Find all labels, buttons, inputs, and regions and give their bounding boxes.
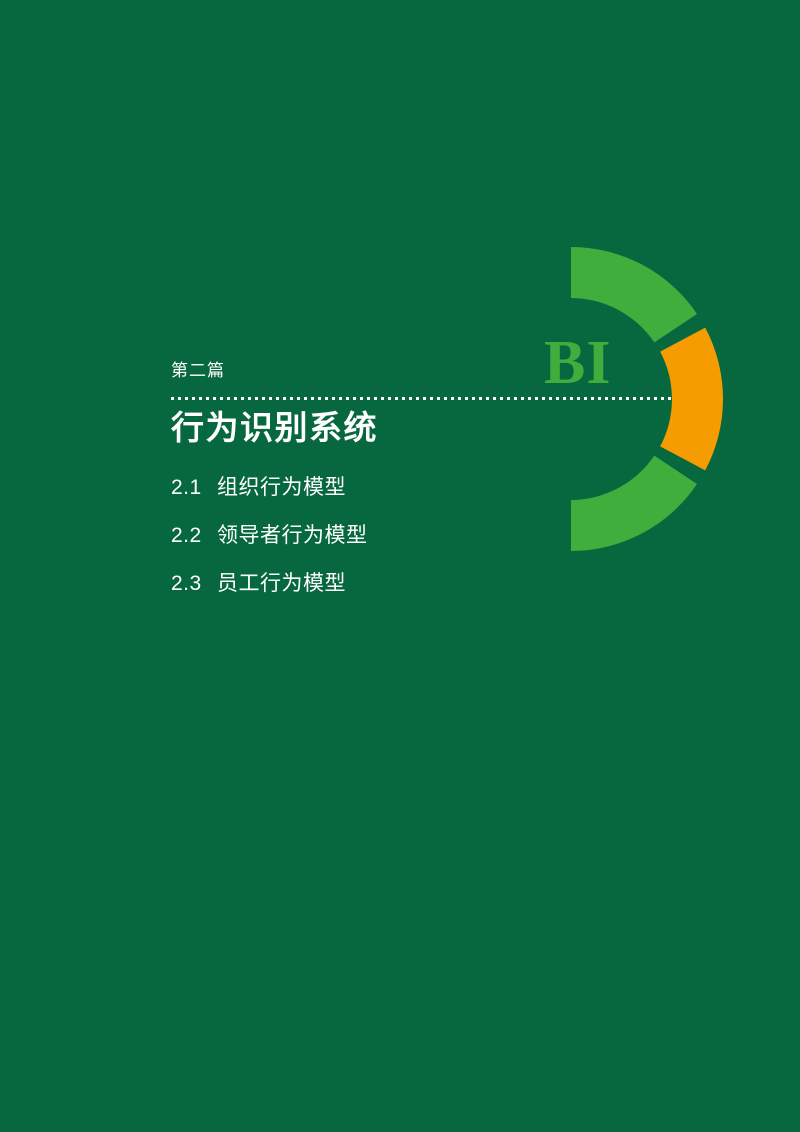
- toc-list: 2.1 组织行为模型 2.2 领导者行为模型 2.3 员工行为模型: [171, 474, 691, 618]
- toc-item-label: 领导者行为模型: [217, 522, 368, 550]
- page-title: 行为识别系统: [171, 408, 378, 448]
- dotted-divider: [171, 397, 672, 400]
- section-divider-page: BI 第二篇 行为识别系统 2.1 组织行为模型 2.2 领导者行为模型 2.3…: [0, 0, 800, 1132]
- section-kicker: 第二篇: [171, 360, 691, 382]
- toc-item-number: 2.1: [171, 474, 217, 502]
- toc-item-2-1[interactable]: 2.1 组织行为模型: [171, 474, 691, 522]
- toc-item-label: 员工行为模型: [217, 570, 346, 598]
- toc-item-number: 2.3: [171, 570, 217, 598]
- toc-item-label: 组织行为模型: [217, 474, 346, 502]
- toc-item-number: 2.2: [171, 522, 217, 550]
- toc-item-2-2[interactable]: 2.2 领导者行为模型: [171, 522, 691, 570]
- toc-item-2-3[interactable]: 2.3 员工行为模型: [171, 570, 691, 618]
- section-header-block: 第二篇: [171, 360, 691, 388]
